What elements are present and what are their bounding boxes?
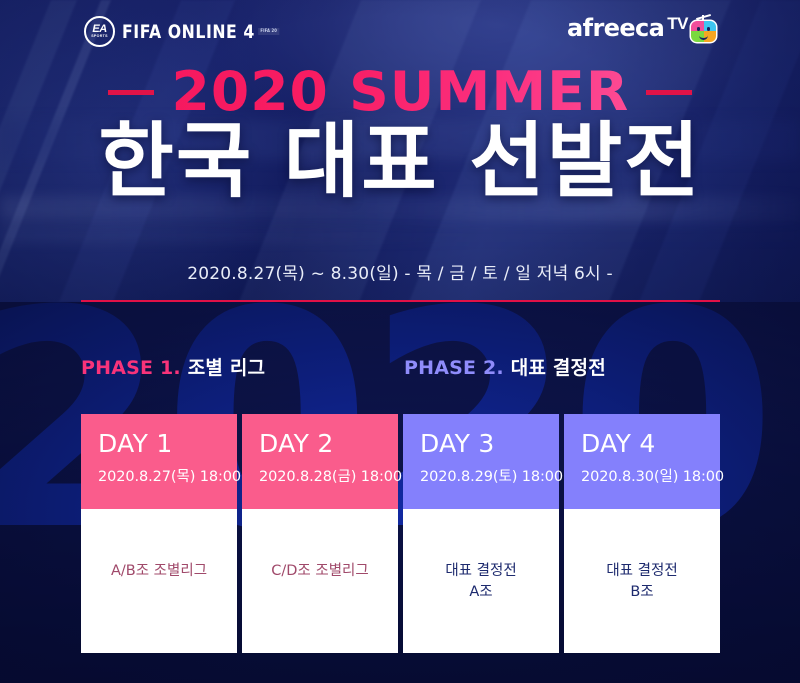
day-card-title: DAY 1 [98, 430, 237, 458]
afreeca-tv-logo: afreeca TV [567, 14, 716, 42]
phase-1-number: PHASE 1. [81, 357, 181, 379]
schedule-cards: DAY 1 2020.8.27(목) 18:00 A/B조 조별리그 DAY 2… [81, 414, 720, 653]
day-card[interactable]: DAY 3 2020.8.29(토) 18:00 대표 결정전 A조 [403, 414, 559, 653]
day-card-header: DAY 1 2020.8.27(목) 18:00 [81, 414, 237, 509]
title-dash-right-icon [646, 90, 692, 95]
fifa-wordmark-text: FIFA ONLINE 4 [122, 21, 255, 43]
title-korean: 한국 대표 선발전 [0, 121, 800, 203]
fifa-wordmark: FIFA ONLINE 4FIFA 20 [122, 21, 279, 43]
day-card-header: DAY 3 2020.8.29(토) 18:00 [403, 414, 559, 509]
day-card[interactable]: DAY 4 2020.8.30(일) 18:00 대표 결정전 B조 [564, 414, 720, 653]
day-card-body: 대표 결정전 A조 [403, 509, 559, 653]
day-card-title: DAY 4 [581, 430, 720, 458]
afreeca-wordmark: afreeca [567, 14, 664, 42]
day-card-match: 대표 결정전 B조 [606, 561, 677, 603]
day-card[interactable]: DAY 2 2020.8.28(금) 18:00 C/D조 조별리그 [242, 414, 398, 653]
phase-1: PHASE 1. 조별 리그 [81, 353, 265, 380]
event-date-line: 2020.8.27(목) ~ 8.30(일) - 목 / 금 / 토 / 일 저… [0, 259, 800, 284]
ea-logo-text: EA [92, 24, 106, 35]
day-card-match: A/B조 조별리그 [111, 561, 207, 582]
title-dash-left-icon [108, 90, 154, 95]
day-card-match: C/D조 조별리그 [271, 561, 368, 582]
day-card-datetime: 2020.8.30(일) 18:00 [581, 465, 720, 486]
day-card-body: C/D조 조별리그 [242, 509, 398, 653]
day-card-title: DAY 2 [259, 430, 398, 458]
day-card-header: DAY 2 2020.8.28(금) 18:00 [242, 414, 398, 509]
tournament-poster: EA SPORTS FIFA ONLINE 4FIFA 20 afreeca T… [0, 0, 800, 683]
fifa-year-badge: FIFA 20 [259, 28, 279, 35]
day-card-body: A/B조 조별리그 [81, 509, 237, 653]
phase-2-label: 대표 결정전 [511, 357, 606, 379]
title-english: 2020 SUMMER [171, 65, 629, 119]
day-card-datetime: 2020.8.27(목) 18:00 [98, 465, 237, 486]
day-card-match: 대표 결정전 A조 [445, 561, 516, 603]
phase-1-label: 조별 리그 [188, 357, 266, 379]
day-card-header: DAY 4 2020.8.30(일) 18:00 [564, 414, 720, 509]
day-card-title: DAY 3 [420, 430, 559, 458]
phase-2: PHASE 2. 대표 결정전 [404, 353, 606, 380]
afreeca-mascot-icon [691, 15, 716, 42]
day-card[interactable]: DAY 1 2020.8.27(목) 18:00 A/B조 조별리그 [81, 414, 237, 653]
afreeca-tv-text: TV [667, 14, 688, 34]
ea-sports-subtext: SPORTS [91, 35, 108, 39]
title-english-row: 2020 SUMMER [0, 62, 800, 122]
fifa-online-4-logo: EA SPORTS FIFA ONLINE 4FIFA 20 [84, 16, 293, 47]
day-card-body: 대표 결정전 B조 [564, 509, 720, 653]
phase-labels: PHASE 1. 조별 리그 PHASE 2. 대표 결정전 [0, 353, 800, 383]
phase-2-number: PHASE 2. [404, 357, 504, 379]
ea-sports-icon: EA SPORTS [84, 16, 115, 47]
day-card-datetime: 2020.8.28(금) 18:00 [259, 465, 398, 486]
day-card-datetime: 2020.8.29(토) 18:00 [420, 465, 559, 486]
